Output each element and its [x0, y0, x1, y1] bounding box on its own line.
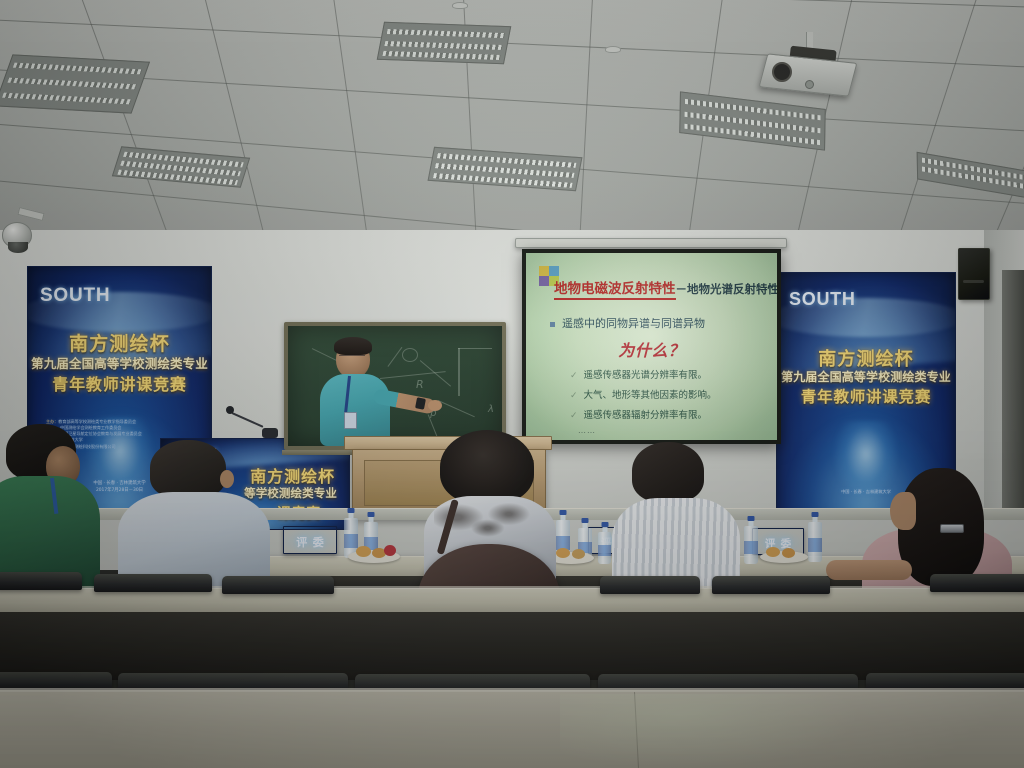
ceiling-light-panel	[0, 54, 150, 113]
seat-back	[600, 576, 700, 594]
attendee-hair	[440, 430, 534, 504]
attendee-arm	[826, 560, 912, 580]
seat-back	[222, 576, 334, 594]
slide-question: 为什么？	[526, 337, 777, 361]
org-host-3: 中国卫星导航定位协会教育与发展专业委员会	[60, 431, 142, 436]
ceiling	[0, 0, 1024, 230]
presenter-hair	[334, 337, 372, 355]
water-bottle	[598, 522, 611, 564]
attendee-face-side	[890, 492, 916, 530]
ceiling-light-panel	[112, 146, 250, 187]
presenter-hand	[428, 400, 442, 411]
slide-subbullet-1: ✓遥感传感器光谱分辨率有限。	[570, 367, 707, 381]
org-host-1: 教育部高等学校测绘类专业教学指导委员会	[58, 419, 136, 424]
check-icon: ✓	[570, 411, 578, 421]
screen-roller-case	[515, 238, 787, 248]
slide-subbullet-2-text: 大气、地形等其他因素的影响。	[584, 390, 717, 401]
banner-left-brand: SOUTH	[40, 285, 110, 307]
seat-back	[712, 576, 830, 594]
banner-right-line3: 青年教师讲课竞赛	[777, 385, 955, 407]
smoke-detector	[452, 2, 468, 9]
slide-bullet-1-text: 遥感中的同物异谱与同谱异物	[562, 317, 705, 330]
water-bottle	[744, 516, 758, 564]
slide-subbullet-2: ✓大气、地形等其他因素的影响。	[570, 387, 717, 401]
presenter-glasses-icon	[339, 355, 365, 360]
slide-subbullet-3: ✓遥感传感器辐射分辨率有限。	[570, 407, 707, 421]
org-host-2: 中国测绘学会测绘教育工作委员会	[60, 425, 121, 430]
seat-back	[94, 574, 212, 592]
attendee-hair	[150, 440, 226, 498]
bullet-marker-icon	[550, 322, 555, 327]
ceiling-light-panel	[377, 22, 512, 64]
snack-item	[356, 546, 371, 557]
snack-item	[766, 547, 780, 557]
wall-speaker	[958, 248, 990, 300]
microphone-base	[262, 428, 278, 438]
org-label-host: 主办：	[46, 419, 58, 424]
attendee-ear	[220, 470, 234, 488]
banner-right-line2: 第九届全国高等学校测绘类专业	[777, 368, 955, 385]
hair-clip	[940, 524, 964, 533]
foreground-desk-highlight	[560, 694, 860, 768]
snack-item	[384, 545, 396, 556]
nameplate-judge: 评委	[283, 526, 337, 554]
smoke-detector	[605, 46, 621, 53]
check-icon: ✓	[570, 391, 578, 401]
microphone-head-icon	[226, 406, 234, 414]
snack-item	[556, 548, 570, 558]
banner-left-line2: 第九届全国高等学校测绘类专业	[28, 353, 211, 372]
slide-bullet-1: 遥感中的同物异谱与同谱异物	[550, 315, 705, 331]
seat-back	[0, 572, 82, 590]
nameplate-judge-text: 评委	[284, 534, 336, 550]
slide-subbullet-3-text: 遥感传感器辐射分辨率有限。	[584, 410, 708, 421]
water-bottle	[808, 512, 822, 562]
banner-left-line3: 青年教师讲课竞赛	[28, 371, 211, 395]
slide-subbullet-1-text: 遥感传感器光谱分辨率有限。	[584, 370, 708, 381]
presentation-slide: 地物电磁波反射特性－地物光谱反射特性 遥感中的同物异谱与同谱异物 为什么？ ✓遥…	[526, 253, 777, 440]
attendee-hair	[632, 442, 704, 502]
projector-focus-knob	[805, 80, 814, 89]
banner-right-brand: SOUTH	[789, 289, 856, 310]
slide-title-main: 地物电磁波反射特性	[554, 281, 676, 300]
banner-left-line1: 南方测绘杯	[28, 329, 211, 356]
projector-lens	[772, 62, 792, 82]
audience-desk-row-2-front	[0, 612, 1024, 680]
foreground-desk	[0, 690, 1024, 768]
slide-ellipsis: ……	[578, 426, 596, 435]
seat-back	[930, 574, 1024, 592]
lecture-hall-photo: SOUTH 南方测绘杯 第九届全国高等学校测绘类专业 青年教师讲课竞赛 主办：教…	[0, 0, 1024, 768]
ceiling-light-panel	[428, 147, 583, 191]
check-icon: ✓	[570, 371, 578, 381]
presenter-badge	[344, 412, 357, 429]
wall-right-recess	[1002, 270, 1024, 520]
ceiling-light-panel	[917, 152, 1024, 200]
snack-item	[572, 549, 585, 559]
slide-title-sub: －地物光谱反射特性	[676, 282, 778, 296]
dome-security-camera	[2, 222, 32, 248]
projection-screen: 地物电磁波反射特性－地物光谱反射特性 遥感中的同物异谱与同谱异物 为什么？ ✓遥…	[522, 249, 781, 444]
slide-title: 地物电磁波反射特性－地物光谱反射特性	[554, 277, 777, 297]
foreground-desk-edge	[0, 688, 1024, 692]
snack-item	[782, 548, 795, 558]
